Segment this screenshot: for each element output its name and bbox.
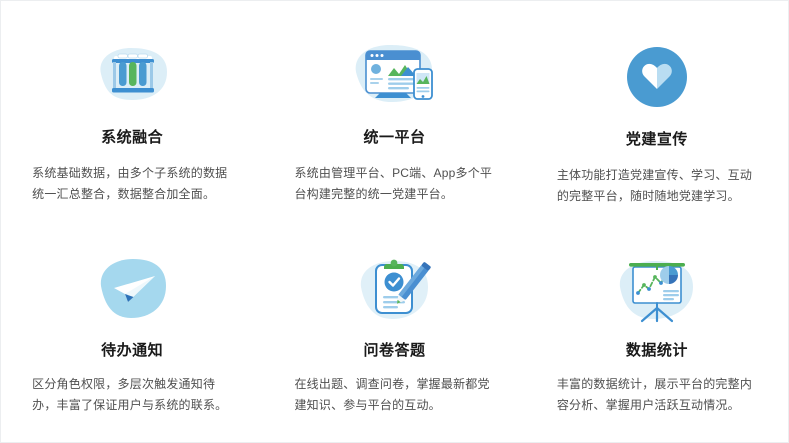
card-title: 问卷答题 — [363, 342, 425, 360]
feature-card-data-statistics[interactable]: 数据统计 丰富的数据统计，展示平台的完整内容分析、掌握用户活跃互动情况。 — [526, 222, 788, 443]
card-description: 丰富的数据统计，展示平台的完整内容分析、掌握用户活跃互动情况。 — [557, 374, 757, 416]
paper-plane-icon — [92, 250, 172, 330]
feature-card-todo-notification[interactable]: 待办通知 区分角色权限，多层次触发通知待办，丰富了保证用户与系统的联系。 — [1, 222, 263, 443]
feature-card-party-publicity[interactable]: 党建宣传 主体功能打造党建宣传、学习、互动的完整平台，随时随地党建学习。 — [526, 1, 788, 222]
clipboard-check-pen-icon — [352, 250, 436, 330]
feature-card-system-integration[interactable]: 系统融合 系统基础数据，由多个子系统的数据统一汇总整合，数据整合加全面。 — [1, 1, 263, 222]
test-tube-rack-icon — [87, 35, 177, 115]
card-title: 待办通知 — [101, 342, 163, 360]
card-title: 党建宣传 — [626, 131, 688, 149]
card-title: 统一平台 — [363, 129, 425, 147]
feature-card-unified-platform[interactable]: 统一平台 系统由管理平台、PC端、App多个平台构建完整的统一党建平台。 — [263, 1, 525, 222]
card-description: 主体功能打造党建宣传、学习、互动的完整平台，随时随地党建学习。 — [557, 165, 757, 207]
card-title: 数据统计 — [626, 342, 688, 360]
heart-circle-icon — [624, 37, 690, 117]
presentation-chart-icon — [611, 250, 703, 330]
browser-and-phone-icon — [346, 35, 442, 115]
card-description: 系统基础数据，由多个子系统的数据统一汇总整合，数据整合加全面。 — [32, 163, 232, 205]
card-description: 系统由管理平台、PC端、App多个平台构建完整的统一党建平台。 — [294, 163, 494, 205]
card-description: 区分角色权限，多层次触发通知待办，丰富了保证用户与系统的联系。 — [32, 374, 232, 416]
feature-grid: 系统融合 系统基础数据，由多个子系统的数据统一汇总整合，数据整合加全面。 — [1, 1, 788, 442]
feature-card-questionnaire[interactable]: 问卷答题 在线出题、调查问卷，掌握最新都党建知识、参与平台的互动。 — [263, 222, 525, 443]
card-description: 在线出题、调查问卷，掌握最新都党建知识、参与平台的互动。 — [294, 374, 494, 416]
card-title: 系统融合 — [101, 129, 163, 147]
